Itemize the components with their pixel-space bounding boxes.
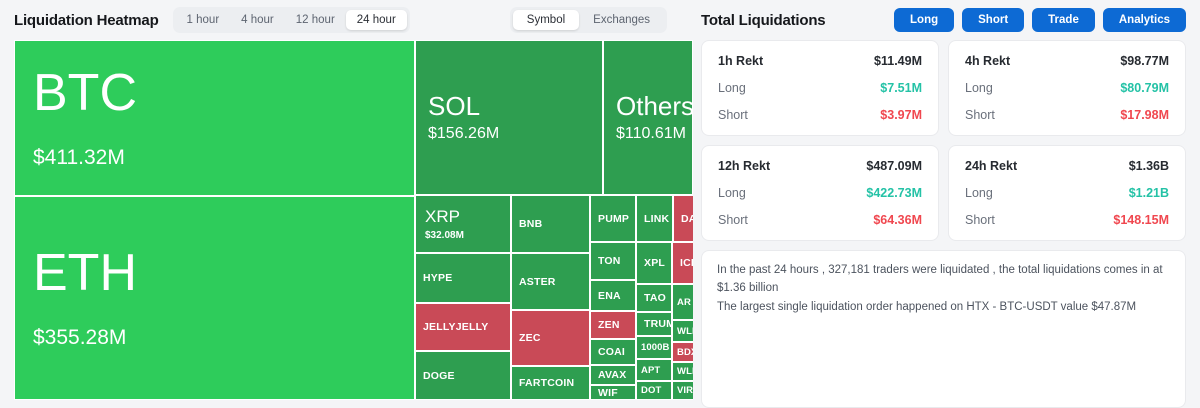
tile-symbol: JELLYJELLY: [416, 321, 510, 333]
long-label: Long: [965, 186, 993, 200]
stat-card-4h: 4h Rekt$98.77MLong$80.79MShort$17.98M: [948, 40, 1186, 136]
tile-symbol: AVAX: [591, 369, 635, 381]
top-bar: Liquidation Heatmap 1 hour4 hour12 hour2…: [0, 0, 1200, 40]
treemap-tile-doge[interactable]: DOGE: [415, 351, 511, 400]
tile-symbol: DOGE: [416, 370, 510, 382]
treemap-tile-tao[interactable]: TAO: [636, 284, 672, 312]
tile-symbol: HYPE: [416, 272, 510, 284]
long-label: Long: [718, 186, 746, 200]
stat-row-long: Long$7.51M: [718, 81, 922, 95]
short-value: $3.97M: [880, 108, 922, 122]
treemap-tile-ton[interactable]: TON: [590, 242, 636, 280]
tile-symbol: TRUMP: [637, 318, 671, 330]
tile-symbol: WLF: [673, 366, 693, 377]
dashboard-body: BTC$411.32METH$355.28MSOL$156.26MOthers$…: [0, 40, 1200, 408]
stat-row-total: 24h Rekt$1.36B: [965, 159, 1169, 173]
treemap-tile-pump[interactable]: PUMP: [590, 195, 636, 242]
tile-symbol: XRP: [416, 207, 510, 227]
tile-value: $32.08M: [416, 230, 510, 241]
long-label: Long: [965, 81, 993, 95]
long-value: $1.21B: [1129, 186, 1169, 200]
treemap-tile-xpl[interactable]: XPL: [636, 242, 672, 284]
short-label: Short: [718, 108, 748, 122]
action-button-row: LongShortTradeAnalytics: [894, 8, 1200, 32]
long-value: $422.73M: [866, 186, 922, 200]
view-tab-exchanges[interactable]: Exchanges: [579, 10, 664, 30]
stat-total-value: $1.36B: [1129, 159, 1169, 173]
treemap-tile-dot[interactable]: DOT: [636, 381, 672, 400]
short-value: $64.36M: [873, 213, 922, 227]
tile-symbol: WIF: [591, 387, 635, 399]
treemap-tile-apt[interactable]: APT: [636, 359, 672, 381]
treemap-tile-icp[interactable]: ICP: [672, 242, 693, 284]
stat-card-row-bottom: 12h Rekt$487.09MLong$422.73MShort$64.36M…: [701, 145, 1186, 241]
tile-symbol: DOT: [637, 385, 671, 396]
treemap-tile-avax[interactable]: AVAX: [590, 365, 636, 385]
timeframe-tab-24-hour[interactable]: 24 hour: [346, 10, 407, 30]
long-label: Long: [718, 81, 746, 95]
analytics-button[interactable]: Analytics: [1103, 8, 1186, 32]
tile-symbol: WLD: [673, 326, 693, 337]
long-button[interactable]: Long: [894, 8, 954, 32]
tile-value: $411.32M: [15, 146, 414, 170]
liquidation-heatmap-treemap[interactable]: BTC$411.32METH$355.28MSOL$156.26MOthers$…: [0, 40, 693, 408]
timeframe-tabs: 1 hour4 hour12 hour24 hour: [173, 7, 410, 33]
treemap-tile-zec[interactable]: ZEC: [511, 310, 590, 366]
stat-row-long: Long$80.79M: [965, 81, 1169, 95]
heatmap-header: Liquidation Heatmap 1 hour4 hour12 hour2…: [0, 7, 693, 33]
treemap-tile-xrp[interactable]: XRP$32.08M: [415, 195, 511, 253]
treemap-tile-jellyjelly[interactable]: JELLYJELLY: [415, 303, 511, 351]
stat-card-24h: 24h Rekt$1.36BLong$1.21BShort$148.15M: [948, 145, 1186, 241]
treemap-tile-1000b[interactable]: 1000B: [636, 336, 672, 359]
stat-total-value: $487.09M: [866, 159, 922, 173]
treemap-tile-wld[interactable]: WLD: [672, 320, 693, 342]
summary-line-2: The largest single liquidation order hap…: [717, 299, 1170, 317]
treemap-tile-hype[interactable]: HYPE: [415, 253, 511, 303]
tile-symbol: TAO: [637, 292, 671, 304]
treemap-tile-sol[interactable]: SOL$156.26M: [415, 40, 603, 195]
stat-title: 4h Rekt: [965, 54, 1010, 68]
stat-total-value: $98.77M: [1120, 54, 1169, 68]
total-liquidations-panel: 1h Rekt$11.49MLong$7.51MShort$3.97M4h Re…: [693, 40, 1200, 408]
stat-row-long: Long$422.73M: [718, 186, 922, 200]
long-value: $80.79M: [1120, 81, 1169, 95]
treemap-tile-others[interactable]: Others$110.61M: [603, 40, 693, 195]
tile-symbol: APT: [637, 365, 671, 376]
trade-button[interactable]: Trade: [1032, 8, 1095, 32]
treemap-tile-bdx[interactable]: BDX: [672, 342, 693, 362]
tile-symbol: TON: [591, 255, 635, 267]
treemap-tile-wif[interactable]: WIF: [590, 385, 636, 400]
summary-note: In the past 24 hours , 327,181 traders w…: [701, 250, 1186, 408]
treemap-tile-ena[interactable]: ENA: [590, 280, 636, 311]
tile-symbol: ZEN: [591, 319, 635, 331]
tile-symbol: ZEC: [512, 332, 589, 344]
treemap-tile-ar[interactable]: AR: [672, 284, 693, 320]
treemap-tile-bnb[interactable]: BNB: [511, 195, 590, 253]
tile-symbol: ICP: [673, 257, 693, 269]
tile-symbol: AR: [673, 297, 693, 308]
stat-row-short: Short$64.36M: [718, 213, 922, 227]
totals-title: Total Liquidations: [701, 12, 825, 29]
treemap-tile-link[interactable]: LINK: [636, 195, 673, 242]
summary-line-1: In the past 24 hours , 327,181 traders w…: [717, 262, 1170, 298]
short-label: Short: [965, 213, 995, 227]
stat-title: 24h Rekt: [965, 159, 1017, 173]
tile-symbol: SOL: [416, 92, 602, 121]
treemap-tile-wlf[interactable]: WLF: [672, 362, 693, 381]
tile-symbol: BDX: [673, 347, 693, 358]
stat-row-short: Short$3.97M: [718, 108, 922, 122]
timeframe-tab-1-hour[interactable]: 1 hour: [176, 10, 231, 30]
treemap-tile-coai[interactable]: COAI: [590, 339, 636, 365]
view-mode-tabs: SymbolExchanges: [510, 7, 667, 33]
short-value: $148.15M: [1113, 213, 1169, 227]
tile-symbol: ETH: [15, 246, 414, 301]
tile-value: $156.26M: [416, 125, 602, 143]
stat-card-row-top: 1h Rekt$11.49MLong$7.51MShort$3.97M4h Re…: [701, 40, 1186, 136]
liquidation-dashboard: Liquidation Heatmap 1 hour4 hour12 hour2…: [0, 0, 1200, 408]
stat-card-12h: 12h Rekt$487.09MLong$422.73MShort$64.36M: [701, 145, 939, 241]
tile-value: $110.61M: [604, 125, 692, 143]
tile-symbol: ASTER: [512, 276, 589, 288]
treemap-tile-eth[interactable]: ETH$355.28M: [14, 196, 415, 400]
treemap-canvas[interactable]: BTC$411.32METH$355.28MSOL$156.26MOthers$…: [14, 40, 693, 400]
tile-symbol: FARTCOIN: [512, 377, 589, 389]
tile-symbol: 1000B: [637, 342, 671, 353]
tile-value: $355.28M: [15, 326, 414, 350]
timeframe-tab-4-hour[interactable]: 4 hour: [230, 10, 285, 30]
treemap-tile-btc[interactable]: BTC$411.32M: [14, 40, 415, 196]
treemap-tile-dash[interactable]: DASH: [673, 195, 693, 242]
tile-symbol: PUMP: [591, 213, 635, 225]
treemap-tile-zen[interactable]: ZEN: [590, 311, 636, 339]
tile-symbol: ENA: [591, 290, 635, 302]
tile-symbol: DASH: [674, 213, 693, 225]
stat-total-value: $11.49M: [874, 54, 922, 68]
tile-symbol: COAI: [591, 346, 635, 358]
page-title: Liquidation Heatmap: [14, 12, 159, 29]
stat-row-long: Long$1.21B: [965, 186, 1169, 200]
stat-row-total: 4h Rekt$98.77M: [965, 54, 1169, 68]
stat-card-1h: 1h Rekt$11.49MLong$7.51MShort$3.97M: [701, 40, 939, 136]
short-label: Short: [965, 108, 995, 122]
tile-symbol: Others: [604, 92, 692, 121]
long-value: $7.51M: [880, 81, 922, 95]
treemap-tile-virt[interactable]: VIRT: [672, 381, 693, 400]
treemap-tile-fartcoin[interactable]: FARTCOIN: [511, 366, 590, 400]
timeframe-tab-12-hour[interactable]: 12 hour: [285, 10, 346, 30]
tile-symbol: LINK: [637, 213, 672, 225]
short-value: $17.98M: [1120, 108, 1169, 122]
view-tab-symbol[interactable]: Symbol: [513, 10, 579, 30]
treemap-tile-trump[interactable]: TRUMP: [636, 312, 672, 336]
stat-row-short: Short$148.15M: [965, 213, 1169, 227]
stat-row-short: Short$17.98M: [965, 108, 1169, 122]
stat-title: 12h Rekt: [718, 159, 770, 173]
stat-title: 1h Rekt: [718, 54, 763, 68]
stat-row-total: 1h Rekt$11.49M: [718, 54, 922, 68]
tile-symbol: VIRT: [673, 385, 693, 396]
totals-header: Total Liquidations LongShortTradeAnalyti…: [693, 8, 1200, 32]
treemap-tile-aster[interactable]: ASTER: [511, 253, 590, 310]
short-label: Short: [718, 213, 748, 227]
tile-symbol: BNB: [512, 218, 589, 230]
short-button[interactable]: Short: [962, 8, 1024, 32]
stat-row-total: 12h Rekt$487.09M: [718, 159, 922, 173]
tile-symbol: BTC: [15, 66, 414, 121]
tile-symbol: XPL: [637, 257, 671, 269]
